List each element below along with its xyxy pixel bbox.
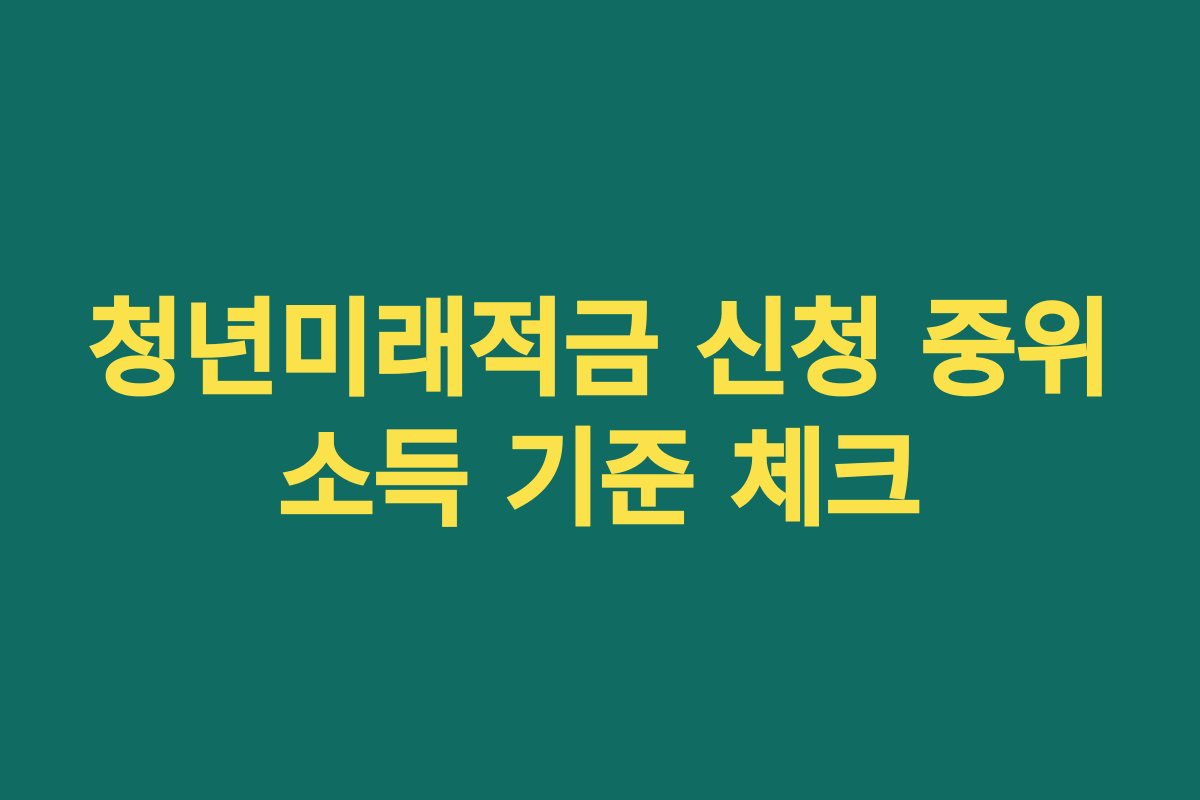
title-card: 청년미래적금 신청 중위 소득 기준 체크 [0,0,1200,800]
title-line-1: 청년미래적금 신청 중위 [24,284,1176,414]
title-line-2: 소득 기준 체크 [24,414,1176,544]
title-text-block: 청년미래적금 신청 중위 소득 기준 체크 [0,284,1200,544]
